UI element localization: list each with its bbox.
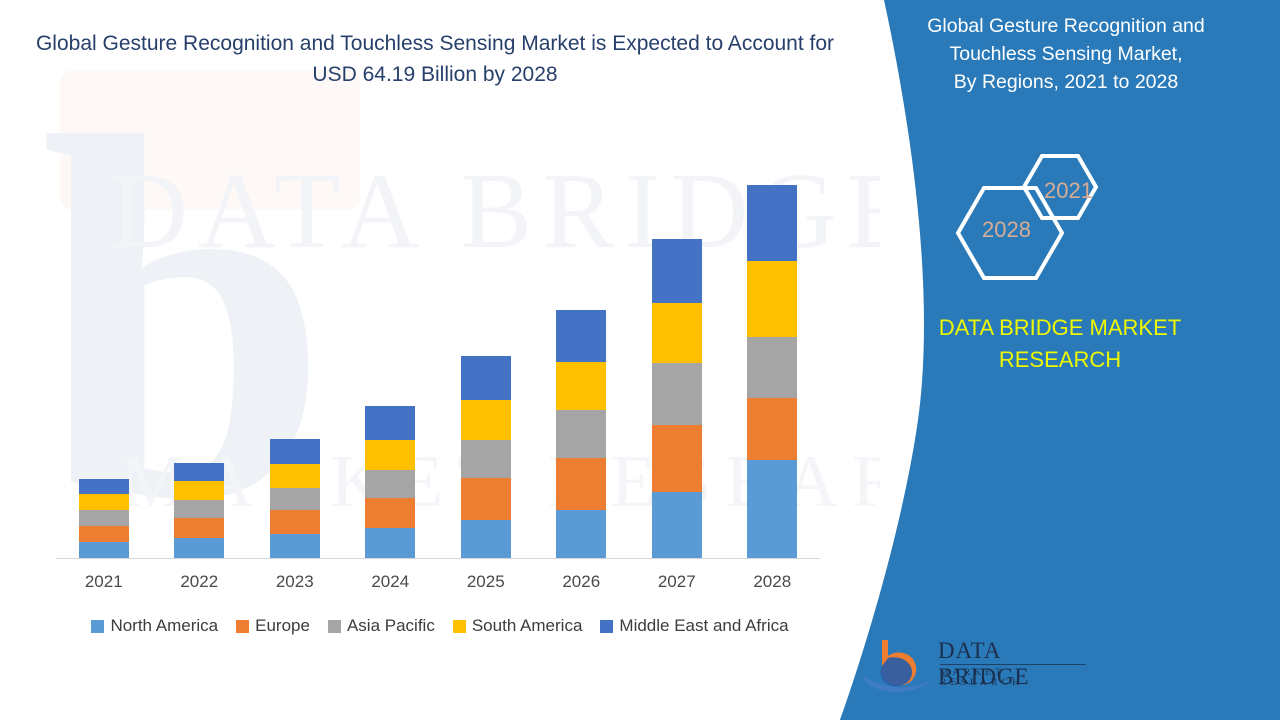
bar-stack[interactable]: [174, 463, 224, 558]
brand-name: DATA BRIDGE MARKET RESEARCH: [860, 312, 1260, 376]
legend-swatch-icon: [600, 620, 613, 633]
bar-stack[interactable]: [365, 406, 415, 558]
bar-segment[interactable]: [270, 534, 320, 558]
bar-segment[interactable]: [461, 478, 511, 520]
bar-chart-plot: [56, 180, 820, 558]
panel-title-line1: Global Gesture Recognition and: [870, 12, 1262, 40]
bar-segment[interactable]: [556, 362, 606, 410]
chart-panel: Global Gesture Recognition and Touchless…: [0, 0, 880, 720]
bar-segment[interactable]: [270, 510, 320, 534]
bar-segment[interactable]: [365, 498, 415, 528]
legend-item[interactable]: South America: [453, 616, 583, 636]
bar-segment[interactable]: [174, 463, 224, 481]
bar-stack[interactable]: [652, 239, 702, 558]
bar-column: [438, 180, 533, 558]
legend-swatch-icon: [328, 620, 341, 633]
hexagon-2021-label: 2021: [1044, 178, 1093, 204]
bar-segment[interactable]: [461, 400, 511, 440]
bar-segment[interactable]: [556, 310, 606, 362]
bar-column: [343, 180, 438, 558]
bar-segment[interactable]: [365, 406, 415, 440]
panel-title-line2: Touchless Sensing Market,: [870, 40, 1262, 68]
bar-segment[interactable]: [365, 440, 415, 470]
bar-column: [152, 180, 247, 558]
bar-segment[interactable]: [270, 439, 320, 464]
x-axis-label: 2024: [343, 572, 438, 592]
brand-name-line2: RESEARCH: [860, 344, 1260, 376]
bar-segment[interactable]: [79, 542, 129, 558]
bar-segment[interactable]: [747, 398, 797, 460]
bar-segment[interactable]: [174, 518, 224, 538]
legend-label: South America: [472, 616, 583, 636]
bar-segment[interactable]: [652, 492, 702, 558]
bar-stack[interactable]: [461, 356, 511, 558]
x-axis-label: 2023: [247, 572, 342, 592]
x-axis-label: 2021: [56, 572, 151, 592]
branding-panel: Global Gesture Recognition and Touchless…: [840, 0, 1280, 720]
bar-column: [725, 180, 820, 558]
bar-segment[interactable]: [461, 520, 511, 558]
bar-segment[interactable]: [556, 410, 606, 458]
bar-segment[interactable]: [270, 488, 320, 510]
bar-stack[interactable]: [747, 185, 797, 558]
bar-segment[interactable]: [79, 479, 129, 494]
bar-segment[interactable]: [461, 356, 511, 400]
bar-segment[interactable]: [747, 337, 797, 398]
hexagon-outlines-icon: [950, 150, 1170, 280]
bar-segment[interactable]: [652, 363, 702, 425]
bar-segment[interactable]: [365, 470, 415, 498]
bar-stack[interactable]: [556, 310, 606, 558]
bar-segment[interactable]: [365, 528, 415, 558]
legend-label: Europe: [255, 616, 310, 636]
hexagon-2028-label: 2028: [982, 217, 1031, 243]
legend-item[interactable]: Middle East and Africa: [600, 616, 788, 636]
bar-segment[interactable]: [747, 460, 797, 558]
bar-segment[interactable]: [556, 510, 606, 558]
brand-name-line1: DATA BRIDGE MARKET: [860, 312, 1260, 344]
bar-segment[interactable]: [79, 494, 129, 510]
bar-segment[interactable]: [652, 425, 702, 492]
legend-item[interactable]: Asia Pacific: [328, 616, 435, 636]
x-axis-label: 2022: [152, 572, 247, 592]
logo-text-sub: MARKET RESEARCH: [940, 668, 1092, 688]
hexagon-graphic: 2021 2028: [950, 150, 1170, 280]
bar-segment[interactable]: [79, 526, 129, 542]
bar-segment[interactable]: [747, 185, 797, 261]
bar-segment[interactable]: [652, 239, 702, 303]
legend-item[interactable]: Europe: [236, 616, 310, 636]
bar-stack[interactable]: [270, 439, 320, 558]
legend-swatch-icon: [236, 620, 249, 633]
bar-segment[interactable]: [174, 500, 224, 518]
bar-segment[interactable]: [652, 303, 702, 363]
bar-column: [247, 180, 342, 558]
legend-item[interactable]: North America: [91, 616, 218, 636]
x-axis-label: 2026: [534, 572, 629, 592]
company-logo: DATA BRIDGE MARKET RESEARCH: [862, 632, 1092, 702]
bar-stack[interactable]: [79, 479, 129, 558]
panel-title-line3: By Regions, 2021 to 2028: [870, 68, 1262, 96]
logo-divider: [940, 664, 1086, 665]
x-axis-line: [56, 558, 820, 559]
legend-swatch-icon: [91, 620, 104, 633]
legend-label: Middle East and Africa: [619, 616, 788, 636]
legend-label: Asia Pacific: [347, 616, 435, 636]
panel-title: Global Gesture Recognition and Touchless…: [870, 12, 1262, 96]
x-axis-tick-labels: 20212022202320242025202620272028: [56, 572, 820, 592]
bar-segment[interactable]: [174, 481, 224, 500]
chart-legend: North AmericaEuropeAsia PacificSouth Ame…: [40, 616, 840, 636]
bar-segment[interactable]: [174, 538, 224, 558]
bar-column: [56, 180, 151, 558]
chart-title: Global Gesture Recognition and Touchless…: [20, 28, 850, 90]
x-axis-label: 2027: [629, 572, 724, 592]
bar-column: [534, 180, 629, 558]
bar-segment[interactable]: [747, 261, 797, 337]
bar-column: [629, 180, 724, 558]
x-axis-label: 2025: [438, 572, 533, 592]
legend-swatch-icon: [453, 620, 466, 633]
bar-segment[interactable]: [270, 464, 320, 488]
logo-mark-icon: [862, 636, 934, 698]
legend-label: North America: [110, 616, 218, 636]
bar-segment[interactable]: [556, 458, 606, 510]
x-axis-label: 2028: [725, 572, 820, 592]
bar-segment[interactable]: [461, 440, 511, 478]
bar-segment[interactable]: [79, 510, 129, 526]
